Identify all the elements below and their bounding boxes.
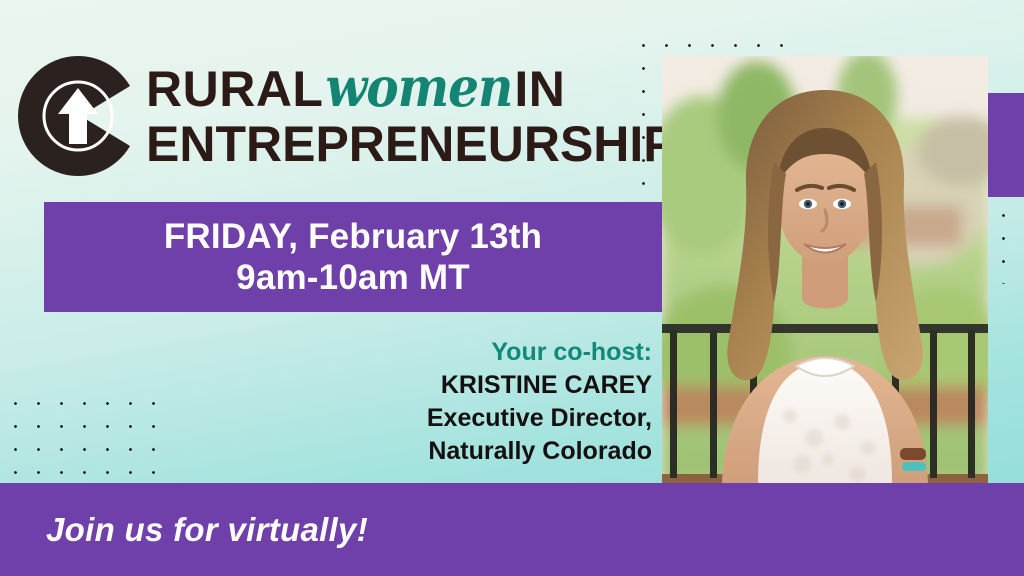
cohost-label: Your co-host: bbox=[310, 336, 652, 369]
event-date: FRIDAY, February 13th bbox=[164, 216, 542, 257]
headline-line-2: ENTREPRENEURSHIP bbox=[146, 120, 666, 168]
event-time: 9am-10am MT bbox=[236, 257, 470, 298]
headline-word-women: women bbox=[323, 55, 514, 119]
headshot-photo bbox=[662, 56, 988, 483]
headline-word-rural: RURAL bbox=[146, 61, 323, 117]
dot-pattern-right-edge bbox=[988, 200, 1024, 284]
cohost-block: Your co-host: KRISTINE CAREY Executive D… bbox=[310, 336, 652, 468]
colorado-c-uparrow-logo-icon bbox=[14, 52, 142, 180]
footer-cta-text: Join us for virtually! bbox=[46, 511, 368, 549]
footer-bar: Join us for virtually! bbox=[0, 483, 1024, 576]
purple-accent-block bbox=[988, 93, 1024, 197]
headline-line-1: RURALwomenIN bbox=[146, 62, 666, 114]
promo-graphic: RURALwomenIN ENTREPRENEURSHIP FRIDAY, Fe… bbox=[0, 0, 1024, 576]
dot-pattern-bottom-left bbox=[0, 388, 170, 483]
cohost-organization: Naturally Colorado bbox=[310, 435, 652, 468]
page-title: RURALwomenIN ENTREPRENEURSHIP bbox=[146, 62, 666, 168]
event-datetime-banner: FRIDAY, February 13th 9am-10am MT bbox=[44, 202, 662, 312]
cohost-title: Executive Director, bbox=[310, 402, 652, 435]
cohost-name: KRISTINE CAREY bbox=[310, 369, 652, 402]
headline-word-in: IN bbox=[514, 61, 565, 117]
